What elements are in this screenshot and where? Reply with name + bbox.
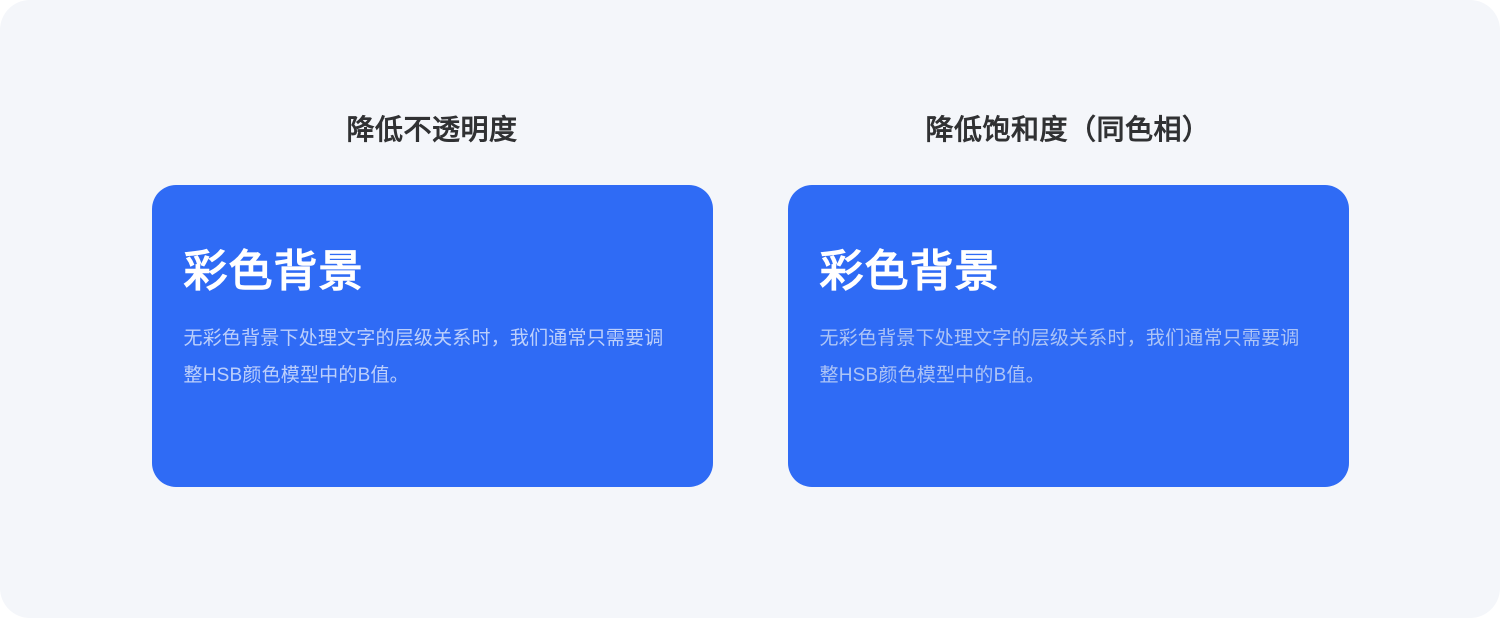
examples-row: 降低不透明度 彩色背景 无彩色背景下处理文字的层级关系时，我们通常只需要调整HS… (0, 0, 1500, 618)
card-body-reduce-opacity: 无彩色背景下处理文字的层级关系时，我们通常只需要调整HSB颜色模型中的B值。 (184, 320, 681, 394)
card-title-reduce-opacity: 彩色背景 (184, 247, 681, 298)
example-heading-reduce-opacity: 降低不透明度 (152, 112, 713, 148)
card-title-reduce-saturation: 彩色背景 (820, 247, 1317, 298)
card-body-reduce-saturation: 无彩色背景下处理文字的层级关系时，我们通常只需要调整HSB颜色模型中的B值。 (820, 320, 1317, 394)
example-column-reduce-opacity: 降低不透明度 彩色背景 无彩色背景下处理文字的层级关系时，我们通常只需要调整HS… (152, 112, 713, 487)
example-column-reduce-saturation: 降低饱和度（同色相） 彩色背景 无彩色背景下处理文字的层级关系时，我们通常只需要… (788, 112, 1349, 487)
example-heading-reduce-saturation: 降低饱和度（同色相） (788, 112, 1349, 148)
demo-card-reduce-opacity: 彩色背景 无彩色背景下处理文字的层级关系时，我们通常只需要调整HSB颜色模型中的… (152, 185, 713, 487)
demo-card-reduce-saturation: 彩色背景 无彩色背景下处理文字的层级关系时，我们通常只需要调整HSB颜色模型中的… (788, 185, 1349, 487)
